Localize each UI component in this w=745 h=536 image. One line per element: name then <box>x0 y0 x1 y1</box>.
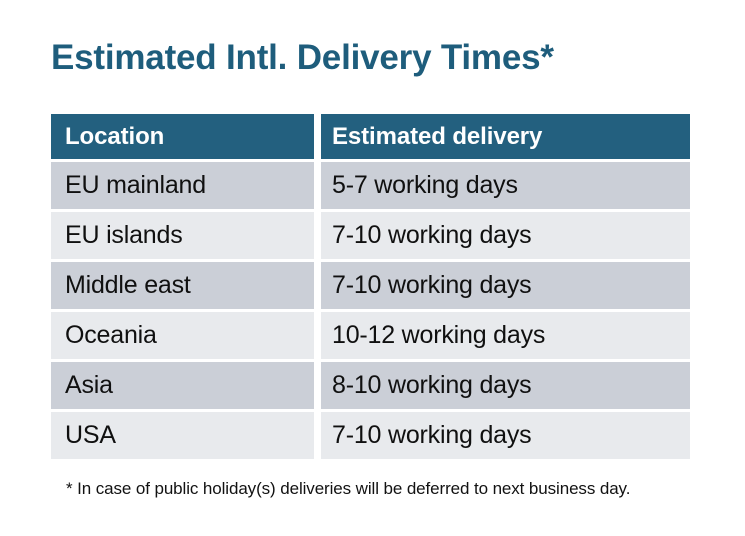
table-row: USA 7-10 working days <box>51 412 690 459</box>
table-row: Oceania 10-12 working days <box>51 312 690 359</box>
cell-delivery: 7-10 working days <box>321 262 690 309</box>
column-header-estimated-delivery: Estimated delivery <box>321 114 690 159</box>
cell-location: Middle east <box>51 262 314 309</box>
table-row: EU islands 7-10 working days <box>51 212 690 259</box>
cell-delivery: 7-10 working days <box>321 212 690 259</box>
table-row: Middle east 7-10 working days <box>51 262 690 309</box>
cell-delivery: 10-12 working days <box>321 312 690 359</box>
cell-location: Oceania <box>51 312 314 359</box>
cell-location: EU islands <box>51 212 314 259</box>
column-header-location: Location <box>51 114 314 159</box>
footnote-public-holiday: * In case of public holiday(s) deliverie… <box>66 478 630 500</box>
cell-delivery: 8-10 working days <box>321 362 690 409</box>
cell-location: EU mainland <box>51 162 314 209</box>
table-header-row: Location Estimated delivery <box>51 114 690 159</box>
estimated-delivery-times-table: Location Estimated delivery EU mainland … <box>51 114 690 459</box>
cell-delivery: 7-10 working days <box>321 412 690 459</box>
cell-location: Asia <box>51 362 314 409</box>
cell-location: USA <box>51 412 314 459</box>
delivery-times-page: Estimated Intl. Delivery Times* Location… <box>0 0 745 536</box>
page-title: Estimated Intl. Delivery Times* <box>51 36 554 80</box>
table-row: Asia 8-10 working days <box>51 362 690 409</box>
table-row: EU mainland 5-7 working days <box>51 162 690 209</box>
cell-delivery: 5-7 working days <box>321 162 690 209</box>
